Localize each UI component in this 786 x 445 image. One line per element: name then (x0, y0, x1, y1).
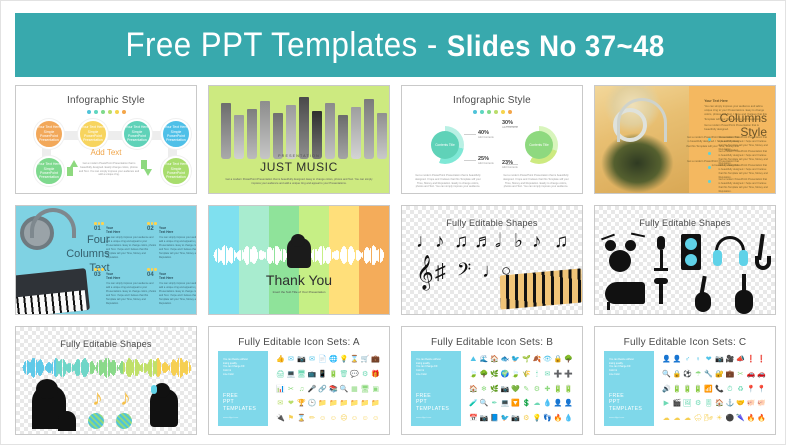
slide-1-add-text: Add Text (91, 148, 122, 157)
slide-thumbnail-6[interactable]: Thank You Insert the Sub Title of Your P… (208, 205, 390, 314)
slide-9-waveform (22, 357, 190, 379)
slide-10-icon-grid[interactable]: 👍✉📷✉📄🌐💡⌛🛒💼🖨💻🖥📺📱🔋🗑💬⚙🎁📊✂♫🎤🔗📚🔍▦🖥▣✉❤🏆🕒📁📁📁📁📁📁… (275, 353, 381, 426)
slide-10-canvas: Fully Editable Icon Sets: A You can Resi… (209, 327, 389, 434)
slide-7-note-beamed: ♫ (454, 232, 468, 251)
slide-1-arrow-up-stem (67, 167, 73, 176)
icon-cell-2-8: ✂ (738, 371, 744, 378)
icon-cell-4-9: 📁 (361, 400, 370, 407)
icon-cell-4-3: 🏆 (297, 400, 306, 407)
slide-1-node-2-label: Your Text Here Simple PowerPoint Present… (80, 125, 106, 143)
icon-cell-1-4: 🐟 (501, 356, 510, 363)
slide-5-col-1-number: 01 (94, 226, 101, 232)
slide-5-col-4-head: YourText Here (159, 272, 173, 280)
slide-thumbnail-7[interactable]: Fully Editable Shapes ♩ ♪ ♫ ♬ 𝅗𝅥 ♭ ♪ ♫ 𝄞 … (401, 205, 583, 314)
icon-cell-4-3: ✒ (492, 400, 498, 407)
icon-cell-2-6: 🔐 (715, 371, 724, 378)
slide-thumbnail-8[interactable]: Fully Editable Shapes (594, 205, 776, 314)
icon-cell-3-2: 🔋 (673, 386, 682, 393)
icon-cell-3-6: 📞 (715, 386, 724, 393)
icon-cell-3-2: ❄ (481, 386, 487, 393)
slide-12-canvas: Fully Editable Icon Sets: C You can Resi… (595, 327, 775, 434)
slide-7-title: Fully Editable Shapes (402, 218, 582, 228)
slide-9-child-silhouette (58, 411, 76, 431)
slide-4-bullet-dot-1 (708, 138, 711, 141)
slide-12-title: Fully Editable Icon Sets: C (595, 337, 775, 348)
slide-7-canvas: Fully Editable Shapes ♩ ♪ ♫ ♬ 𝅗𝅥 ♭ ♪ ♫ 𝄞 … (402, 206, 582, 313)
icon-cell-4-9: 👤 (554, 400, 563, 407)
icon-cell-2-6: 🔋 (329, 371, 338, 378)
slide-12-brand-panel: You can Resize withoutlosing quality.You… (604, 351, 654, 426)
icon-cell-2-1: 🍃 (469, 371, 478, 378)
icon-cell-3-9: 🔋 (554, 386, 563, 393)
icon-cell-5-1: ☁ (663, 415, 670, 422)
slide-7-flat-symbol: ♭ (514, 232, 523, 251)
icon-cell-3-5: 🔗 (318, 386, 327, 393)
slide-3-stat-2: 25%Add Contents (478, 156, 494, 165)
slide-1-node-4-label: Your Text Here Simple PowerPoint Present… (163, 125, 189, 143)
icon-cell-3-6: ✎ (523, 386, 529, 393)
slide-3-stat-4: 23%Add Contents (502, 160, 518, 169)
icon-cell-4-1: ✉ (277, 400, 283, 407)
icon-cell-1-3: 🏠 (490, 356, 499, 363)
icon-cell-3-1: 🔊 (662, 386, 671, 393)
slide-1-node-6: Your Text Here Simple PowerPoint Present… (161, 156, 191, 186)
slide-8-headphones-cup-left (713, 250, 722, 266)
slide-2-key-3 (247, 109, 257, 159)
slide-5-col-3-number: 03 (94, 272, 101, 278)
icon-cell-3-7: ⚙ (534, 386, 540, 393)
slide-5-col-1-head: YourText Here (106, 226, 120, 234)
slide-4-right-intro2: Get a modern PowerPoint Presentation tha… (704, 124, 769, 132)
icon-cell-5-9: 🔥 (554, 415, 563, 422)
slide-1-arrow-down-stem (141, 160, 147, 169)
slide-4-bullet-dot-4 (708, 180, 711, 183)
slide-thumbnail-grid: Infographic Style Your Text Here Simple … (15, 85, 776, 435)
icon-cell-3-3: 🔋 (683, 386, 692, 393)
slide-3-body-right: Get a modern PowerPoint Presentation tha… (502, 174, 570, 189)
slide-10-panel-top-text: You can Resize withoutlosing quality.You… (223, 358, 263, 377)
icon-cell-4-4: ⚙ (695, 400, 701, 407)
icon-cell-1-8: 👁 (543, 356, 552, 363)
icon-cell-3-10: 📍 (757, 386, 766, 393)
slide-6-canvas: Thank You Insert the Sub Title of Your P… (209, 206, 389, 313)
icon-cell-3-8: ▦ (351, 386, 358, 393)
icon-cell-1-2: ✉ (288, 356, 294, 363)
page-title-range: Slides No 37~48 (447, 30, 665, 63)
slide-thumbnail-11[interactable]: Fully Editable Icon Sets: B You can Resi… (401, 326, 583, 435)
slide-2-key-13 (377, 113, 387, 159)
icon-cell-3-1: 📊 (276, 386, 285, 393)
icon-cell-5-10: ☺ (372, 415, 379, 422)
icon-cell-2-4: ☂ (695, 371, 701, 378)
icon-cell-2-9: ➕ (554, 371, 563, 378)
header-banner: Free PPT Templates - Slides No 37~48 (15, 13, 776, 77)
icon-cell-2-7: 🗑 (339, 371, 348, 378)
slide-7-note-pair-1: ♪ (532, 232, 542, 251)
icon-cell-4-7: ⚓ (726, 400, 735, 407)
icon-cell-1-10: 💼 (371, 356, 380, 363)
icon-cell-2-7: 🕯 (536, 371, 538, 378)
slide-8-headphones-cup-right (739, 250, 748, 266)
icon-cell-5-6: ☺ (330, 415, 337, 422)
page-title-main: Free PPT Templates (126, 26, 418, 64)
icon-cell-3-1: 🏠 (469, 386, 478, 393)
slide-1-arrow-down-icon (144, 169, 152, 176)
slide-10-title: Fully Editable Icon Sets: A (209, 337, 389, 348)
slide-1-node-3: Your Text Here Simple PowerPoint Present… (122, 119, 152, 149)
slide-7-note-quarter: ♩ (416, 232, 435, 251)
slide-3-stat-1: 40%Add Contents (478, 130, 494, 139)
slide-9-note-disc-1 (88, 413, 104, 429)
slide-2-subtitle: Get a modern PowerPoint Presentation tha… (221, 178, 377, 186)
icon-cell-1-6: 📷 (715, 356, 724, 363)
icon-cell-1-10: ❗ (757, 356, 766, 363)
slide-1-arrow-up-icon (70, 160, 78, 167)
icon-cell-2-2: 🔒 (673, 371, 682, 378)
icon-cell-3-9: 🖥 (361, 386, 370, 393)
icon-cell-2-10: 🎁 (371, 371, 380, 378)
icon-cell-5-8: ☺ (351, 415, 358, 422)
icon-cell-5-5: 📷 (511, 415, 520, 422)
icon-cell-2-8: ✉ (545, 371, 551, 378)
slide-8-saxophone-bell (755, 256, 771, 270)
icon-cell-5-10: 🔥 (757, 415, 766, 422)
slide-5-col-3-head: YourText Here (106, 272, 120, 280)
icon-cell-2-2: 💻 (287, 371, 296, 378)
slide-7-note-sixteenth: ♬ (474, 232, 493, 251)
icon-cell-1-3: 📷 (297, 356, 306, 363)
icon-cell-4-6: 🏠 (715, 400, 724, 407)
icon-cell-5-6: ⚙ (523, 415, 529, 422)
slide-11-title: Fully Editable Icon Sets: B (402, 337, 582, 348)
icon-cell-4-2: 🔍 (480, 400, 489, 407)
slide-thumbnail-10[interactable]: Fully Editable Icon Sets: A You can Resi… (208, 326, 390, 435)
slide-9-note-icon-1: ♪ (92, 387, 103, 409)
slide-10-brand-panel: You can Resize withoutlosing quality.You… (218, 351, 268, 426)
slide-5-canvas: FourColumnsText 01 YourText Here You can… (16, 206, 196, 313)
slide-2-canvas: PRESENTATION JUST MUSIC Get a modern Pow… (209, 86, 389, 193)
slide-12-panel-top-text: You can Resize withoutlosing quality.You… (609, 358, 649, 377)
icon-cell-3-3: 🌿 (490, 386, 499, 393)
icon-cell-2-1: 🔍 (662, 371, 671, 378)
slide-thumbnail-2[interactable]: PRESENTATION JUST MUSIC Get a modern Pow… (208, 85, 390, 194)
slide-1-title: Infographic Style (16, 95, 196, 106)
slide-9-note-icon-2: ♪ (120, 387, 131, 409)
slide-3-donut-right-core: Contents Title (525, 131, 553, 159)
icon-cell-5-1: 🔌 (276, 415, 285, 422)
icon-cell-4-7: ☁ (533, 400, 540, 407)
icon-cell-1-8: 📣 (736, 356, 745, 363)
slide-12-panel-brand: FREEPPTTEMPLATES (609, 386, 642, 412)
icon-cell-5-4: 🐦 (501, 415, 510, 422)
icon-cell-5-3: 📘 (490, 415, 499, 422)
icon-cell-1-5: 📄 (318, 356, 327, 363)
icon-cell-1-2: 👤 (673, 356, 682, 363)
slide-thumbnail-1[interactable]: Infographic Style Your Text Here Simple … (15, 85, 197, 194)
slide-10-panel-brand: FREEPPTTEMPLATES (223, 386, 256, 412)
slide-3-donut-left-core: Contents Title (431, 131, 459, 159)
slide-2-key-10 (338, 115, 348, 159)
icon-cell-4-2: ❤ (288, 400, 294, 407)
icon-cell-1-3: ♂ (685, 356, 690, 363)
icon-cell-4-6: 💲 (522, 400, 531, 407)
icon-cell-2-5: 📱 (318, 371, 327, 378)
icon-cell-1-6: 🌐 (329, 356, 338, 363)
icon-cell-1-5: 🐦 (511, 356, 520, 363)
icon-cell-4-10: 🐖 (757, 400, 766, 407)
icon-cell-1-2: 🌊 (480, 356, 489, 363)
icon-cell-1-6: 🌱 (522, 356, 531, 363)
slide-11-panel-top-text: You can Resize withoutlosing quality.You… (416, 358, 456, 377)
icon-cell-2-8: 💬 (350, 371, 359, 378)
slide-2-title: JUST MUSIC (209, 160, 389, 174)
slide-9-title: Fully Editable Shapes (16, 339, 196, 349)
slide-5-col-4-body: You can simply impress your audience and… (159, 282, 196, 305)
icon-cell-2-3: 🖥 (297, 371, 306, 378)
slide-9-couple-head (36, 379, 58, 399)
slide-8-drum-kit-icon (609, 250, 631, 272)
slide-4-canvas: ColumnsStyle Get a modern PowerPoint Pre… (595, 86, 775, 193)
slide-4-right-intro: You can simply impress your audience and… (704, 105, 769, 122)
icon-cell-4-3: 🖼 (683, 400, 692, 407)
icon-cell-2-4: 🌍 (501, 371, 510, 378)
icon-cell-1-9: 🛒 (361, 356, 370, 363)
icon-cell-1-9: ❗ (747, 356, 756, 363)
slide-11-icon-grid[interactable]: ⛰🌊🏠🐟🐦🌱🍂👁🔒🌳🍃🌳🌿🌍🍃🌾🕯✉➕➕🏠❄🌿📷💚✎⚙✚🔋🔋🧪🔍✒💻🔽💲☁💧👤👤… (468, 353, 574, 426)
slide-12-panel-url: www.allppt.com (609, 417, 624, 419)
slide-1-node-3-label: Your Text Here Simple PowerPoint Present… (124, 125, 150, 143)
icon-cell-1-4: ✉ (309, 356, 315, 363)
icon-cell-1-1: ⛰ (470, 356, 476, 363)
icon-cell-3-3: ♫ (299, 386, 304, 393)
icon-cell-4-5: 🔽 (511, 400, 520, 407)
icon-cell-3-4: 📷 (501, 386, 510, 393)
icon-cell-3-10: 🔋 (564, 386, 573, 393)
icon-cell-4-5: 🎚 (704, 400, 713, 407)
icon-cell-5-5: ☺ (319, 415, 326, 422)
slide-1-node-5-label: Your Text Here Simple PowerPoint Present… (36, 162, 62, 180)
slide-1-node-1-label: Your Text Here Simple PowerPoint Present… (36, 125, 62, 143)
icon-cell-5-4: ✏ (309, 415, 315, 422)
icon-cell-4-10: 👤 (564, 400, 573, 407)
icon-cell-4-6: 📁 (329, 400, 338, 407)
icon-cell-4-5: 📁 (318, 400, 327, 407)
slide-8-microphone-stem (660, 250, 663, 268)
slide-3-body-left: Get a modern PowerPoint Presentation tha… (414, 174, 482, 189)
icon-cell-1-5: ❤ (706, 356, 712, 363)
icon-cell-3-4: 🎤 (308, 386, 317, 393)
icon-cell-5-7: ☹ (340, 415, 347, 422)
icon-cell-2-9: ⚙ (362, 371, 368, 378)
slide-2-key-12 (364, 99, 374, 159)
icon-cell-5-8: 🌂 (736, 415, 745, 422)
icon-cell-3-7: ⏱ (727, 386, 732, 393)
slide-2-key-4 (260, 101, 270, 159)
slide-2-key-9 (325, 103, 335, 159)
slide-7-note-eighth: ♪ (435, 232, 445, 251)
slide-2-key-11 (351, 107, 361, 159)
slide-thumbnail-5[interactable]: FourColumnsText 01 YourText Here You can… (15, 205, 197, 314)
icon-cell-5-6: ☀ (716, 415, 722, 422)
icon-cell-4-4: 🕒 (308, 400, 317, 407)
slide-9-note-disc-2 (116, 413, 132, 429)
icon-cell-3-10: ▣ (372, 386, 379, 393)
slide-3-donut-left: Contents Title (426, 126, 464, 164)
icon-cell-3-7: 🔍 (340, 386, 349, 393)
icon-cell-4-8: 📁 (350, 400, 359, 407)
icon-cell-3-4: 🔋 (694, 386, 703, 393)
slide-8-grand-piano-leg (607, 302, 610, 310)
slide-5-col-1-body: You can simply impress your audience and… (106, 236, 158, 259)
icon-cell-5-8: 👣 (543, 415, 552, 422)
slide-2-key-1 (221, 103, 231, 159)
slide-6-title: Thank You (209, 272, 389, 288)
slide-11-panel-brand: FREEPPTTEMPLATES (416, 386, 449, 412)
icon-cell-5-2: 📷 (480, 415, 489, 422)
page-title-separator: - (418, 26, 447, 64)
icon-cell-1-10: 🌳 (564, 356, 573, 363)
icon-cell-4-8: 🤝 (736, 400, 745, 407)
slide-6-subtitle: Insert the Sub Title of Your Presentatio… (209, 290, 389, 294)
slide-8-violin-icon (735, 290, 753, 313)
slide-11-canvas: Fully Editable Icon Sets: B You can Resi… (402, 327, 582, 434)
slide-8-microphone-icon (657, 236, 665, 250)
slide-thumbnail-4[interactable]: ColumnsStyle Get a modern PowerPoint Pre… (594, 85, 776, 194)
icon-cell-1-4: ♀ (695, 356, 700, 363)
icon-cell-4-9: 🐖 (747, 400, 756, 407)
slide-2-key-6 (286, 105, 296, 159)
icon-cell-5-3: ⌛ (297, 415, 306, 422)
icon-cell-1-1: 👤 (662, 356, 671, 363)
slide-4-bullet-4: Get a modern PowerPoint Presentation tha… (719, 178, 769, 193)
slide-8-title: Fully Editable Shapes (595, 218, 775, 228)
icon-cell-2-4: 📺 (308, 371, 317, 378)
icon-cell-4-1: ▶ (664, 400, 669, 407)
icon-cell-1-1: 👍 (276, 356, 285, 363)
slide-4-bullet-dot-3 (708, 166, 711, 169)
slide-11-brand-panel: You can Resize withoutlosing quality.You… (411, 351, 461, 426)
slide-7-piano-keys-wave (500, 269, 582, 310)
icon-cell-5-2: ☁ (673, 415, 680, 422)
icon-cell-1-7: 🎥 (726, 356, 735, 363)
slide-8-violin-neck (742, 274, 746, 292)
slide-3-stat-3: 30%Add Contents (502, 120, 518, 129)
slide-1-dot-row (16, 110, 196, 114)
slide-1-connector-top (54, 131, 172, 140)
icon-cell-1-7: 🍂 (533, 356, 542, 363)
icon-cell-1-8: ⌛ (350, 356, 359, 363)
slide-5-col-3-body: You can simply impress your audience and… (106, 282, 158, 305)
icon-cell-5-7: 💡 (533, 415, 542, 422)
icon-cell-5-7: ⚫ (726, 415, 735, 422)
slide-3-title: Infographic Style (402, 95, 582, 106)
slide-1-node-2: Your Text Here Simple PowerPoint Present… (78, 119, 108, 149)
icon-cell-2-10: 🚗 (757, 371, 766, 378)
slide-2-key-5 (273, 113, 283, 159)
slide-4-right-heading: Your Text Here (704, 99, 769, 103)
slide-11-panel-url: www.allppt.com (416, 417, 431, 419)
icon-cell-2-10: ➕ (564, 371, 573, 378)
slide-1-node-5: Your Text Here Simple PowerPoint Present… (34, 156, 64, 186)
slide-1-body: Get a modern PowerPoint Presentation tha… (78, 162, 140, 177)
slide-12-icon-grid[interactable]: 👤👤♂♀❤📷🎥📣❗❗🔍🔒⚽☂🔧🔐💼✂🚗🚗🔊🔋🔋🔋📶📞⏱♻📍📍▶🎬🖼⚙🎚🏠⚓🤝🐖🐖… (661, 353, 767, 426)
slide-1-node-4: Your Text Here Simple PowerPoint Present… (161, 119, 191, 149)
icon-cell-5-10: 💧 (564, 415, 573, 422)
slide-thumbnail-12[interactable]: Fully Editable Icon Sets: C You can Resi… (594, 326, 776, 435)
slide-4-headphone-band-icon (617, 98, 667, 142)
icon-cell-5-2: ⚑ (288, 415, 294, 422)
slide-8-canvas: Fully Editable Shapes (595, 206, 775, 313)
icon-cell-2-7: 💼 (726, 371, 735, 378)
icon-cell-3-6: 📚 (329, 386, 338, 393)
slide-5-col-2-body: You can simply impress your audience and… (159, 236, 196, 259)
slide-8-drum-tom-left (605, 240, 616, 251)
icon-cell-2-5: 🍃 (511, 371, 520, 378)
icon-cell-4-4: 💻 (501, 400, 510, 407)
icon-cell-5-3: ☁ (684, 415, 691, 422)
slide-8-microphone-base (654, 268, 668, 271)
slide-10-panel-url: www.allppt.com (223, 417, 238, 419)
slide-2-key-8 (312, 111, 322, 159)
slide-3-donut-right-label: Contents Title (529, 143, 549, 147)
slide-1-node-1: Your Text Here Simple PowerPoint Present… (34, 119, 64, 149)
icon-cell-2-3: ⚽ (683, 371, 692, 378)
icon-cell-2-1: 🖨 (276, 371, 285, 378)
slide-8-cymbal-right (631, 233, 645, 238)
icon-cell-4-7: 📁 (340, 400, 349, 407)
slide-8-drum-tom-right (625, 240, 636, 251)
icon-cell-5-9: 🔥 (747, 415, 756, 422)
icon-cell-1-9: 🔒 (554, 356, 563, 363)
icon-cell-5-1: 📅 (469, 415, 478, 422)
icon-cell-2-2: 🌳 (480, 371, 489, 378)
icon-cell-5-5: 🌬 (704, 415, 713, 422)
slide-7-bass-clef: 𝄢 (457, 261, 471, 283)
icon-cell-4-1: 🧪 (469, 400, 478, 407)
icon-cell-1-7: 💡 (340, 356, 349, 363)
slide-7-treble-clef: 𝄞 (416, 258, 434, 288)
slide-3-donut-left-label: Contents Title (435, 143, 455, 147)
slide-8-trumpet-bell (654, 278, 668, 284)
slide-thumbnail-3[interactable]: Infographic Style Contents Title Content… (401, 85, 583, 194)
slide-9-canvas: Fully Editable Shapes ♪ ♪ (16, 327, 196, 434)
icon-cell-4-10: 📁 (371, 400, 380, 407)
icon-cell-4-8: 💧 (543, 400, 552, 407)
slide-1-node-6-label: Your Text Here Simple PowerPoint Present… (163, 162, 189, 180)
icon-cell-3-8: ♻ (737, 386, 743, 393)
slide-4-bullet-dot-2 (708, 152, 711, 155)
page-root: Free PPT Templates - Slides No 37~48 Inf… (0, 0, 786, 445)
slide-5-col-2-number: 02 (147, 226, 154, 232)
slide-2-pre-title: PRESENTATION (209, 154, 389, 158)
icon-cell-2-6: 🌾 (522, 371, 531, 378)
slide-7-note-half: 𝅗𝅥 (495, 232, 501, 251)
icon-cell-3-5: 💚 (511, 386, 520, 393)
icon-cell-3-2: ✂ (288, 386, 294, 393)
slide-7-note-pair-2: ♫ (554, 232, 568, 251)
slide-3-donut-right: Contents Title (520, 126, 558, 164)
icon-cell-2-9: 🚗 (747, 371, 756, 378)
slide-5-col-2-head: YourText Here (159, 226, 173, 234)
slide-8-grand-piano-icon (605, 282, 645, 304)
slide-5-col-4-number: 04 (147, 272, 154, 278)
slide-2-key-2 (234, 115, 244, 159)
icon-cell-3-5: 📶 (704, 386, 713, 393)
slide-thumbnail-9[interactable]: Fully Editable Shapes ♪ ♪ (15, 326, 197, 435)
icon-cell-3-9: 📍 (747, 386, 756, 393)
icon-cell-3-8: ✚ (545, 386, 551, 393)
slide-3-dot-row (402, 110, 582, 114)
